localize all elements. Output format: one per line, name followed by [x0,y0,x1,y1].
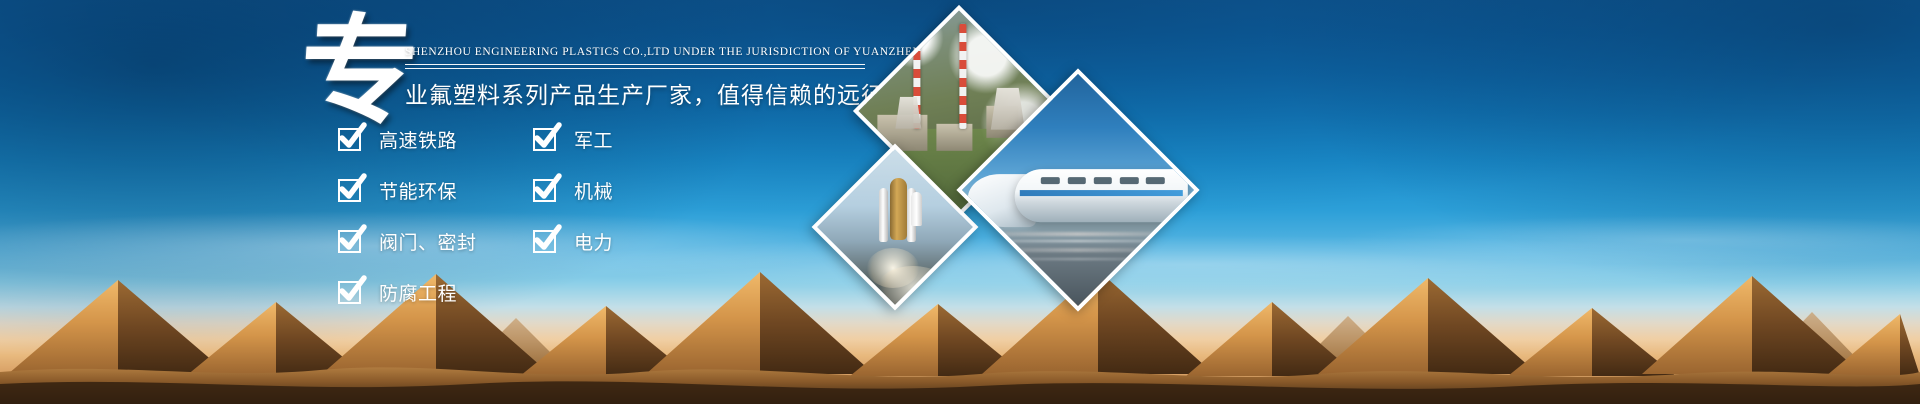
divider-rule [405,64,865,69]
feature-item-valve-seal[interactable]: 阀门、密封 [338,222,477,260]
headline-block: SHENZHOU ENGINEERING PLASTICS CO.,LTD UN… [405,44,885,110]
feature-label: 机械 [574,177,613,204]
checkbox-checked-icon [533,179,556,202]
logo-character: 专 [296,14,422,132]
checkbox-checked-icon [533,128,556,151]
checkbox-checked-icon [338,281,361,304]
feature-label: 军工 [574,126,613,153]
feature-label: 防腐工程 [379,279,457,306]
feature-item-military[interactable]: 军工 [533,120,613,158]
chinese-tagline: 业氟塑料系列产品生产厂家，值得信赖的远征品牌 [405,76,885,110]
feature-item-high-speed-rail[interactable]: 高速铁路 [338,120,477,158]
promo-banner: 专 SHENZHOU ENGINEERING PLASTICS CO.,LTD … [0,0,1920,404]
feature-label: 电力 [574,228,613,255]
feature-item-energy-saving[interactable]: 节能环保 [338,171,477,209]
feature-label: 高速铁路 [379,126,457,153]
feature-column-right: 军工 机械 电力 [533,120,613,273]
feature-column-left: 高速铁路 节能环保 阀门、密封 防腐工程 [338,120,477,324]
feature-item-electric-power[interactable]: 电力 [533,222,613,260]
feature-item-anticorrosion[interactable]: 防腐工程 [338,273,477,311]
pyramids-silhouette [0,234,1920,404]
checkbox-checked-icon [338,128,361,151]
feature-item-machinery[interactable]: 机械 [533,171,613,209]
checkbox-checked-icon [533,230,556,253]
feature-label: 阀门、密封 [379,228,477,255]
checkbox-checked-icon [338,179,361,202]
desert-pyramids-scene [0,234,1920,404]
feature-label: 节能环保 [379,177,457,204]
checkbox-checked-icon [338,230,361,253]
english-tagline: SHENZHOU ENGINEERING PLASTICS CO.,LTD UN… [405,44,885,60]
